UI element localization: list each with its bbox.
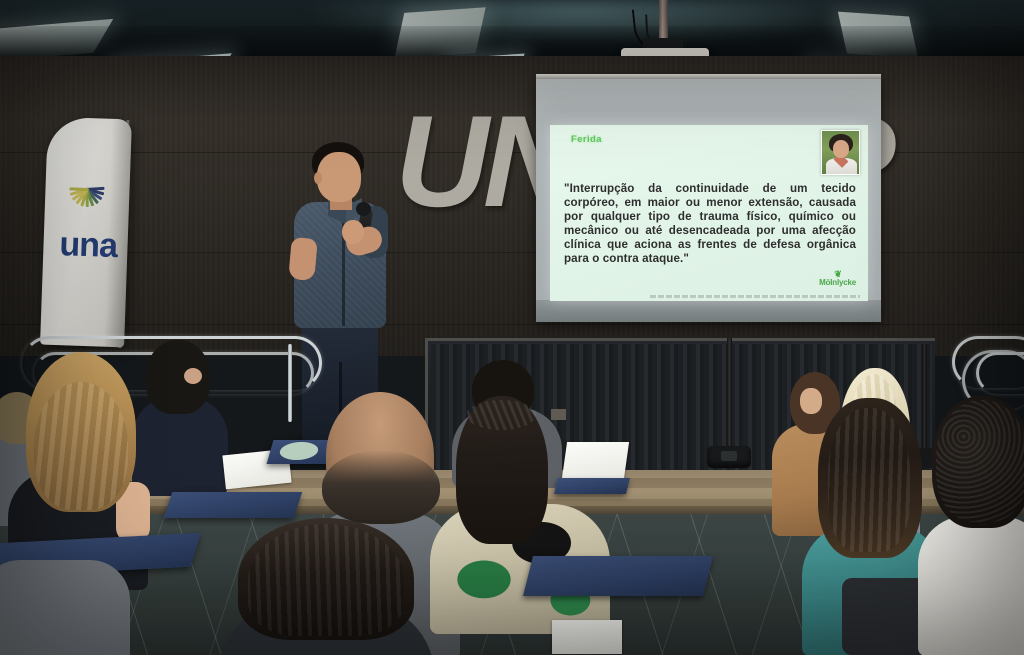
presenter-hand xyxy=(342,220,364,244)
slide-brand-logo: ❦ Mölnlycke xyxy=(819,271,856,287)
una-banner: una xyxy=(40,117,132,348)
audience-member xyxy=(228,518,424,655)
lecture-hall-photo: UNP Ferida "Interrupção da continuidade … xyxy=(0,0,1024,655)
slide-heading: Ferida xyxy=(571,134,602,145)
tablet-arm-desk xyxy=(164,492,302,518)
screen-surface: Ferida "Interrupção da continuidade de u… xyxy=(536,78,881,322)
tablet-arm-desk xyxy=(554,478,630,494)
slide-portrait-photo xyxy=(821,130,860,175)
ceiling xyxy=(0,0,1024,60)
slide-footnote xyxy=(650,295,860,298)
molnlycke-mark-icon: ❦ xyxy=(819,271,856,278)
audience-member xyxy=(0,560,130,655)
presentation-slide: Ferida "Interrupção da continuidade de u… xyxy=(550,125,868,301)
presenter-head xyxy=(317,152,361,202)
projection-screen: Ferida "Interrupção da continuidade de u… xyxy=(536,74,881,322)
presenter-arm-left xyxy=(288,237,318,281)
molnlycke-wordmark: Mölnlycke xyxy=(819,278,856,287)
una-sunburst-ray xyxy=(69,187,88,191)
screen-bottom-bar xyxy=(536,300,881,322)
audience-member xyxy=(918,396,1024,655)
microphone-head-icon xyxy=(356,202,371,216)
slide-body-text: "Interrupção da continuidade de um tecid… xyxy=(564,182,856,267)
handout-paper xyxy=(552,620,622,654)
tablet-arm-desk xyxy=(523,556,713,596)
handrail-post xyxy=(288,344,292,422)
portrait-face xyxy=(833,140,849,158)
speaker-stand-pole xyxy=(727,338,732,450)
screen-top-casing xyxy=(536,74,881,79)
una-sunburst-icon xyxy=(59,167,117,213)
speaker-stand-base xyxy=(707,446,751,468)
